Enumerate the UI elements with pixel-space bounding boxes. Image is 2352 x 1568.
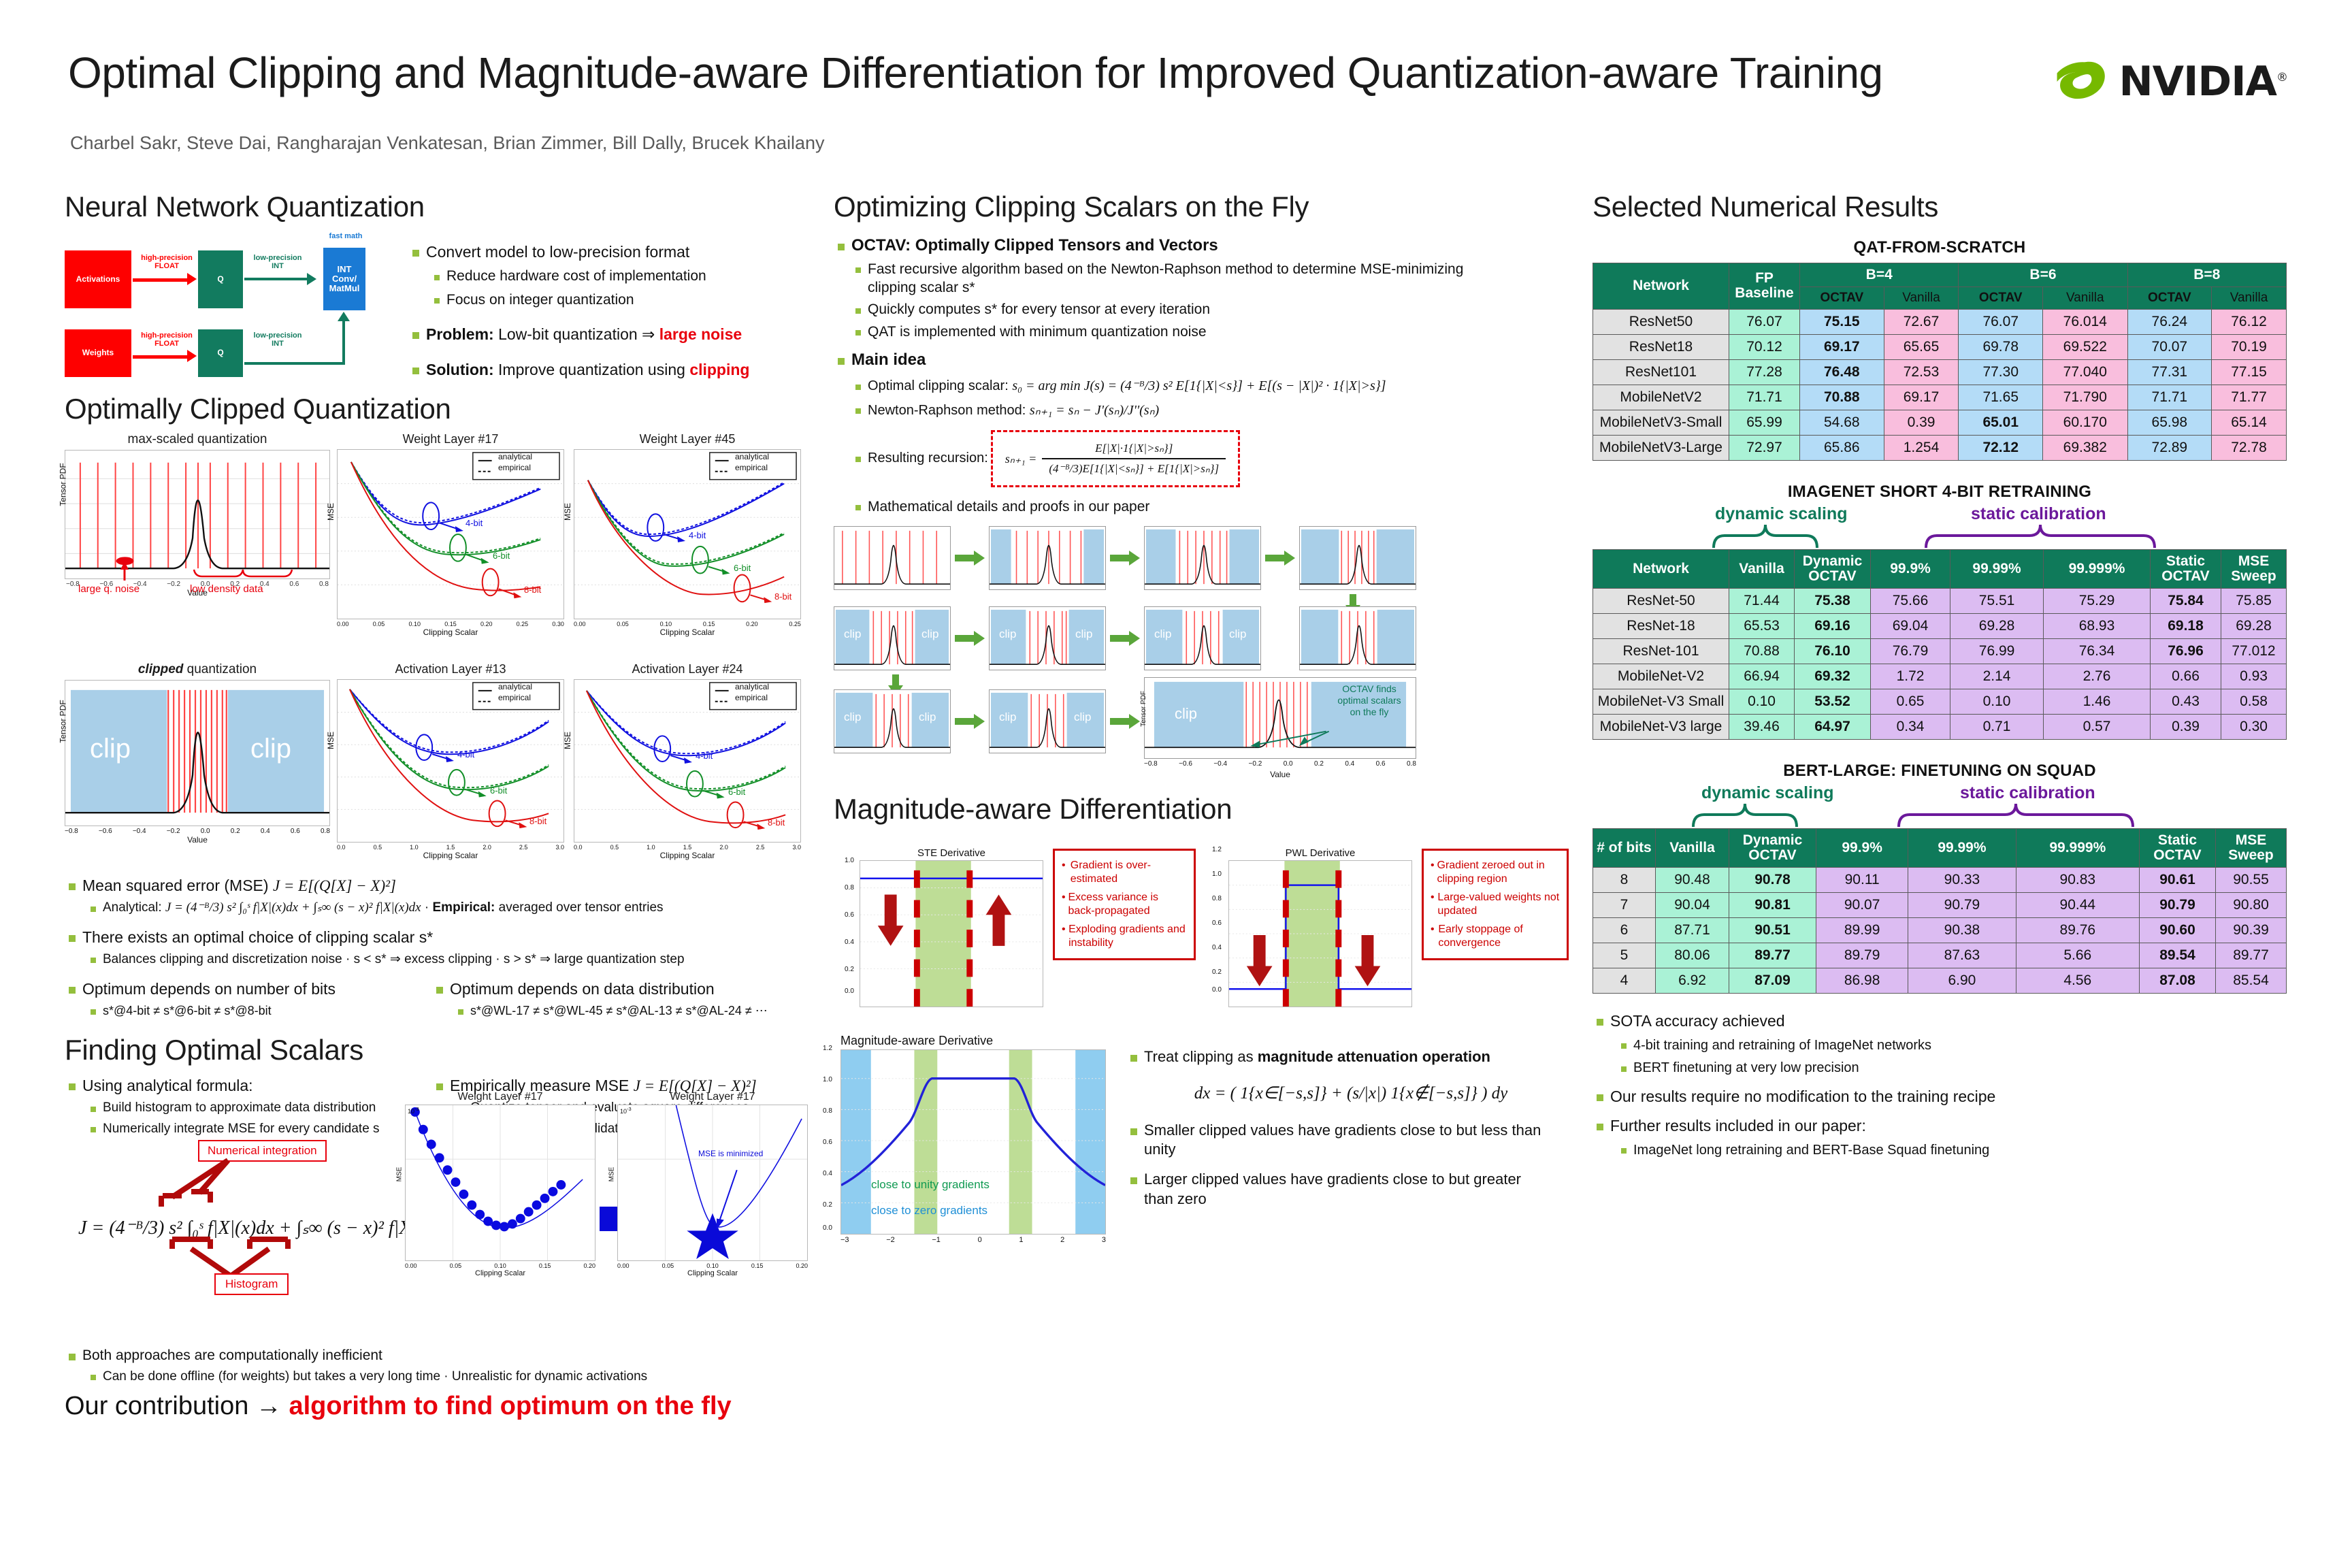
t2-th-7: MSE Sweep [2221,549,2287,588]
pdf-and-mse-plots-top: max-scaled quantization [65,432,806,657]
legend-empirical-2: empirical [498,693,531,702]
t3-th-0: # of bits [1593,829,1656,868]
cell-value: 90.44 [2016,893,2139,918]
table3-header-row: # of bits Vanilla Dynamic OCTAV 99.9% 99… [1593,829,2287,868]
t2-th-5: 99.999% [2044,549,2151,588]
arrowhead-1 [187,273,197,285]
section-title-magnitude-aware: Magnitude-aware Differentiation [834,793,1596,826]
mad-green-label: close to unity gradients [871,1178,990,1192]
table3-caption: BERT-LARGE: FINETUNING ON SQUAD [1592,762,2287,781]
ste-title: STE Derivative [860,847,1043,859]
scatter-ytick-top-0: 10-3 [408,1106,419,1115]
axis-label-mse-scatter-0: MSE [395,1167,403,1182]
cell-value: 69.04 [1871,614,1950,639]
max-scaled-plot-title: max-scaled quantization [65,432,330,447]
flow-cell-r2c2: clip clip [989,606,1106,670]
bullet-optimum-bits-sub: s*@4-bit ≠ s*@6-bit ≠ s*@8-bit [85,1003,432,1019]
clipped-xticks: −0.8−0.6−0.4−0.20.00.20.40.60.8 [65,826,330,835]
axis-label-clipping-scalar-2: Clipping Scalar [337,851,564,860]
cell-value: 71.790 [2043,385,2128,410]
axis-label-mse-scatter-1: MSE [608,1167,615,1182]
cell-value: 64.97 [1795,715,1871,740]
mse-xticks-3: 0.00.51.01.52.02.53.0 [574,843,801,851]
th-vanilla-b4: Vanilla [1884,287,1959,310]
mad-ytick-0.0: 0.0 [823,1224,832,1232]
legend-empirical-0: empirical [498,463,531,472]
bit-label-8-0: 8-bit [524,585,541,595]
mad-block: Magnitude-aware Derivative close to unit… [834,1034,1596,1258]
legend-analytical-2: analytical [498,682,532,691]
cell-value: 4.56 [2016,968,2139,994]
cell-network: MobileNetV2 [1593,385,1729,410]
bullet-optimal-choice: There exists an optimal choice of clippi… [65,928,806,947]
octav-equations: Optimal clipping scalar: s₀ = arg min J(… [834,378,1596,517]
cell-fp-baseline: 65.99 [1729,410,1800,435]
recursion-row: Resulting recursion: sₙ₊₁ = E[|X|·1{|X|>… [834,430,1596,487]
flow-cell-r3c2: clip clip [989,689,1106,753]
arrow-q-to-matmul-1 [244,278,310,280]
flow-clip-label-final: clip [1175,705,1197,723]
mse-plot-title-0: Weight Layer #17 [337,432,564,446]
th-b8: B=8 [2127,263,2286,287]
cell-value: 89.79 [1816,943,1908,968]
bullet-math-details: Mathematical details and proofs in our p… [850,498,1596,517]
table-row: 46.9287.0986.986.904.5687.0885.54 [1593,968,2287,994]
bullet-balances: Balances clipping and discretization noi… [85,951,806,968]
cell-row-label: 8 [1593,868,1656,893]
conclusion-sub-bullet: 4-bit training and retraining of ImageNe… [1616,1037,2287,1055]
inefficiency-block: Both approaches are computationally inef… [65,1347,806,1385]
cell-value: 76.10 [1795,639,1871,664]
cell-value: 89.54 [2140,943,2216,968]
mad-ytick-0.4: 0.4 [823,1170,832,1177]
author-list: Charbel Sakr, Steve Dai, Rangharajan Ven… [70,133,825,154]
mse-plot-title-1: Weight Layer #45 [574,432,801,446]
table2-brace-label-static: static calibration [1971,504,2106,524]
bit-label-4-0: 4-bit [465,518,483,528]
table3-brace-label-static: static calibration [1960,783,2095,803]
table2-brace-svg [1592,525,2287,549]
nvidia-eye-icon [2056,57,2109,106]
bullet-octav-qat: QAT is implemented with minimum quantiza… [850,323,1596,342]
mad-ytick-0.8: 0.8 [823,1107,832,1115]
table-row: MobileNetV3-Large72.9765.861.25472.1269.… [1593,435,2287,460]
octav-annotation: OCTAV finds optimal scalars on the fly [1331,683,1407,717]
bullet-both-inefficient: Both approaches are computationally inef… [65,1347,806,1365]
scatter-ytick-top-1: 10-3 [620,1106,632,1115]
annotation-large-noise: large q. noise [78,583,140,595]
bullet-numerically-integrate: Numerically integrate MSE for every cand… [85,1121,432,1137]
bert-large-block: BERT-LARGE: FINETUNING ON SQUAD dynamic … [1592,762,2287,994]
cell-value: 76.014 [2043,309,2128,334]
empirical-text: averaged over tensor entries [495,900,663,915]
cell-value: 1.72 [1871,664,1950,689]
bit-label-6-3: 6-bit [728,787,745,797]
treat-clipping-bold: magnitude attenuation operation [1258,1048,1490,1065]
registered-mark: ® [2276,71,2287,84]
cell-value: 70.88 [1729,639,1795,664]
cell-value: 0.10 [1729,689,1795,715]
cell-value: 90.48 [1656,868,1729,893]
legend-analytical-0: analytical [498,452,532,461]
ste-notes-box: •Gradient is over-estimated •Excess vari… [1053,849,1196,960]
cell-value: 60.170 [2043,410,2128,435]
cell-value: 69.78 [1959,334,2043,359]
table-bert-large: # of bits Vanilla Dynamic OCTAV 99.9% 99… [1592,828,2287,994]
scatter-title-0: Weight Layer #17 [405,1091,595,1103]
pwl-derivative-plot: PWL Derivative 1.2 1.0 0.8 0.6 0.4 0.2 0… [1228,832,1412,1007]
th-octav-b6: OCTAV [1959,287,2043,310]
newton-label: Newton-Raphson method: [868,403,1030,418]
cell-value: 89.77 [2216,943,2287,968]
cell-value: 76.99 [1950,639,2044,664]
cell-value: 90.81 [1729,893,1816,918]
analytical-label: Analytical: [103,900,162,915]
table3-body: 890.4890.7890.1190.3390.8390.6190.55790.… [1593,868,2287,994]
table-row: MobileNet-V266.9469.321.722.142.760.660.… [1593,664,2287,689]
cell-network: ResNet101 [1593,359,1729,385]
cell-value: 70.07 [2127,334,2212,359]
cell-value: 90.60 [2140,918,2216,943]
cell-value: 6.90 [1908,968,2016,994]
table2-header-row: Network Vanilla Dynamic OCTAV 99.9% 99.9… [1593,549,2287,588]
flow-clip-label-r2c2: clip [999,627,1017,641]
mse-plot-weight-17: Weight Layer #17 [337,432,564,637]
cell-value: 54.68 [1800,410,1884,435]
axis-label-value-flow: Value [1144,770,1416,779]
cell-value: 75.66 [1871,589,1950,614]
cell-value: 65.14 [2212,410,2287,435]
cell-value: 1.254 [1884,435,1959,460]
conclusion-bullet: Further results included in our paper: [1592,1116,2287,1136]
table2-body: ResNet-5071.4475.3875.6675.5175.2975.847… [1593,589,2287,740]
bullet-octav-heading: OCTAV: Optimally Clipped Tensors and Vec… [834,235,1596,257]
cell-value: 89.76 [2016,918,2139,943]
t3-th-1: Vanilla [1656,829,1729,868]
conclusion-bullet: Our results require no modification to t… [1592,1087,2287,1107]
cell-value: 76.96 [2151,639,2221,664]
mad-text-block: Treat clipping as magnitude attenuation … [1126,1047,1575,1209]
cell-value: 65.98 [2127,410,2212,435]
pwl-note-1: •Large-valued weights not updated [1431,891,1560,918]
cell-value: 90.51 [1729,918,1816,943]
conclusion-bullets: SOTA accuracy achieved4-bit training and… [1592,1011,2287,1159]
cell-value: 75.85 [2221,589,2287,614]
bullet-newton-raphson: Newton-Raphson method: sₙ₊₁ = sₙ − J'(sₙ… [850,402,1596,420]
flow-arrowhead-r1-1 [974,551,985,566]
cell-value: 75.15 [1800,309,1884,334]
table2-braces: dynamic scaling static calibration [1592,502,2287,549]
newton-formula: sₙ₊₁ = sₙ − J'(sₙ)/J''(sₙ) [1030,403,1159,418]
clipped-rest: quantization [183,662,257,676]
cell-row-label: MobileNet-V2 [1593,664,1729,689]
flow-clip-label-r3c1: clip [844,710,862,724]
bullet-build-histogram: Build histogram to approximate data dist… [85,1100,432,1116]
low-precision-int-label-2: low-precisionINT [246,332,310,348]
octav-block: OCTAV: Optimally Clipped Tensors and Vec… [834,235,1596,371]
clipped-em: clipped [138,662,184,676]
cell-value: 0.71 [1950,715,2044,740]
cell-value: 90.04 [1656,893,1729,918]
bullet-optimum-dist-sub: s*@WL-17 ≠ s*@WL-45 ≠ s*@AL-13 ≠ s*@AL-2… [453,1003,806,1019]
scatter-canvas-0: 10-3 MSE [405,1105,595,1261]
th-b6: B=6 [1959,263,2127,287]
axis-label-mse-3: MSE [563,732,572,749]
table-row: MobileNetV271.7170.8869.1771.6571.79071.… [1593,385,2287,410]
scatter-title-1: Weight Layer #17 [617,1091,808,1103]
bullet-optimum-bits: Optimum depends on number of bits [65,979,432,999]
weights-box: Weights [65,329,131,377]
cell-value: 0.10 [1950,689,2044,715]
nvidia-wordmark: NVIDIA® [2119,58,2287,105]
recursion-equation-box: sₙ₊₁ = E[|X|·1{|X|>sₙ}] (4⁻ᴮ/3)E[1{|X|<s… [991,430,1240,487]
clipped-plot-title: clipped quantization [65,662,330,677]
cell-value: 39.46 [1729,715,1795,740]
cell-fp-baseline: 77.28 [1729,359,1800,385]
axis-label-mse-1: MSE [563,503,572,521]
cell-row-label: 7 [1593,893,1656,918]
table-row: 790.0490.8190.0790.7990.4490.7990.80 [1593,893,2287,918]
cell-value: 72.89 [2127,435,2212,460]
table-qat-from-scratch: Network FP Baseline B=4 B=6 B=8 OCTAV Va… [1592,263,2287,461]
cell-fp-baseline: 76.07 [1729,309,1800,334]
mad-blue-label: close to zero gradients [871,1204,987,1218]
solution-label: Solution: [426,361,494,378]
bullet-reduce-hw-cost: Reduce hardware cost of implementation [429,267,803,286]
flow-cell-final: clip OCTAV finds optimal scalars on the … [1144,677,1416,759]
cell-value: 90.80 [2216,893,2287,918]
section-title-optimizing-clipping: Optimizing Clipping Scalars on the Fly [834,191,1596,223]
flow-arrow-r3-2 [1110,718,1130,725]
ste-note-1: •Excess variance is back-propagated [1062,891,1187,918]
cell-value: 65.53 [1729,614,1795,639]
table-imagenet-retraining: Network Vanilla Dynamic OCTAV 99.9% 99.9… [1592,549,2287,740]
table3-brace-label-dynamic: dynamic scaling [1701,783,1834,803]
cell-value: 72.12 [1959,435,2043,460]
table3-brace-svg [1592,804,2287,828]
flow-clip-label-r3c1b: clip [919,710,936,724]
table-row: MobileNetV3-Small65.9954.680.3965.0160.1… [1593,410,2287,435]
contribution-prefix: Our contribution → [65,1392,289,1420]
cell-value: 90.39 [2216,918,2287,943]
legend-empirical-3: empirical [735,693,768,702]
bullet-focus-integer: Focus on integer quantization [429,291,803,310]
optimal-scalar-formula: s₀ = arg min J(s) = (4⁻ᴮ/3) s² E[1{|X|<s… [1012,378,1386,393]
cell-value: 77.012 [2221,639,2287,664]
cell-value: 0.30 [2221,715,2287,740]
mse-xticks-2: 0.00.51.01.52.02.53.0 [337,843,564,851]
cell-value: 69.16 [1795,614,1871,639]
bullet-mse: Mean squared error (MSE) J = E[(Q[X] − X… [65,876,806,896]
flow-cell-r2c3: clip clip [1144,606,1261,670]
cell-fp-baseline: 72.97 [1729,435,1800,460]
bit-label-8-2: 8-bit [529,816,546,826]
mse-xticks-1: 0.000.050.100.150.200.25 [574,619,801,627]
ste-ytick-0.6: 0.6 [845,911,854,919]
bullet-solution: Solution: Improve quantization using cli… [408,360,803,380]
mse-plot-activation-13: Activation Layer #13 [337,662,564,860]
cell-value: 69.382 [2043,435,2128,460]
ste-note-0: •Gradient is over-estimated [1062,859,1187,886]
th-b4: B=4 [1800,263,1959,287]
cell-value: 65.86 [1800,435,1884,460]
mse-plot-canvas-1: analytical empirical 4-bit 6-bit 8-bit [574,449,801,619]
bullet-larger-clipped: Larger clipped values have gradients clo… [1126,1170,1548,1208]
mse-text-block: Mean squared error (MSE) J = E[(Q[X] − X… [65,876,806,1019]
int-conv-matmul-box: INTConv/MatMul [323,248,365,310]
recursion-label: Resulting recursion: [850,450,988,468]
cell-network: MobileNetV3-Large [1593,435,1729,460]
ste-ytick-0.8: 0.8 [845,884,854,892]
cell-value: 53.52 [1795,689,1871,715]
mse-plot-canvas-2: analytical empirical 4-bit 6-bit 8-bit [337,679,564,843]
flow-arrowhead-r3-1 [974,714,985,729]
cell-value: 0.34 [1871,715,1950,740]
axis-label-clipping-scalar-1: Clipping Scalar [574,627,801,637]
arrow-weights-path-v [342,321,345,365]
bullet-optimal-clipping-scalar: Optimal clipping scalar: s₀ = arg min J(… [850,378,1596,395]
scatter-canvas-1: 10-3 MSE MSE is minimized [617,1105,808,1261]
bullet-smaller-clipped: Smaller clipped values have gradients cl… [1126,1121,1548,1159]
ste-ytick-0.2: 0.2 [845,966,854,973]
cell-value: 86.98 [1816,968,1908,994]
t3-th-3: 99.9% [1816,829,1908,868]
recursion-denominator: (4⁻ᴮ/3)E[1{|X|<sₙ}] + E[1{|X|>sₙ}] [1042,459,1226,476]
table-row: ResNet-10170.8876.1076.7976.9976.3476.96… [1593,639,2287,664]
scatter-xticks-0: 0.000.050.100.150.20 [405,1261,595,1269]
flow-clip-label-r2c3b: clip [1229,627,1247,641]
formula-and-scatter-block: Numerical integration J = (4⁻ᴮ/3) s² ∫₀ˢ… [65,1140,806,1344]
clipped-plot-canvas: clip clip [65,680,330,826]
scatter-xticks-1: 0.000.050.100.150.20 [617,1261,808,1269]
scatter-plot-2: Weight Layer #17 10-3 MSE MSE is minimiz… [617,1091,808,1277]
cell-row-label: 4 [1593,968,1656,994]
legend-analytical-1: analytical [735,452,769,461]
bullet-convert-model: Convert model to low-precision format [408,242,803,262]
th-network: Network [1593,263,1729,310]
flow-arrowhead-r3-2 [1129,714,1140,729]
cell-value: 90.55 [2216,868,2287,893]
conclusion-sub-bullet: BERT finetuning at very low precision [1616,1060,2287,1077]
cell-value: 76.07 [1959,309,2043,334]
mse-plot-canvas-0: analytical empirical 4-bit 6-bit 8-bit [337,449,564,619]
empirical-label: Empirical: [433,900,495,915]
cell-value: 69.28 [1950,614,2044,639]
cell-value: 72.67 [1884,309,1959,334]
bullet-problem: Problem: Low-bit quantization ⇒ large no… [408,325,803,344]
mad-ytick-0.6: 0.6 [823,1139,832,1146]
table-row: 580.0689.7789.7987.635.6689.5489.77 [1593,943,2287,968]
table-row: ResNet1870.1269.1765.6569.7869.52270.077… [1593,334,2287,359]
flow-cell-r1c3 [1144,526,1261,590]
cell-value: 77.15 [2212,359,2287,385]
cell-value: 65.01 [1959,410,2043,435]
cell-value: 72.78 [2212,435,2287,460]
table2-caption: IMAGENET SHORT 4-BIT RETRAINING [1592,483,2287,502]
flow-arrowhead-r2-1 [974,631,985,646]
cell-value: 75.84 [2151,589,2221,614]
cell-value: 1.46 [2044,689,2151,715]
t3-th-7: MSE Sweep [2216,829,2287,868]
cell-value: 90.78 [1729,868,1816,893]
pwl-ytick-0.4: 0.4 [1212,944,1222,951]
scatter-plot-1: Weight Layer #17 10-3 MS [405,1091,595,1277]
ste-ytick-1.0: 1.0 [845,857,854,864]
clip-label-right: clip [250,734,291,764]
mad-canvas: close to unity gradients close to zero g… [840,1049,1106,1235]
annotation-low-density: low density data [190,583,263,595]
axis-label-clipping-scatter-0: Clipping Scalar [405,1269,595,1277]
right-column: Selected Numerical Results QAT-FROM-SCRA… [1592,191,2287,1159]
cell-value: 76.24 [2127,309,2212,334]
th-octav-b4: OCTAV [1800,287,1884,310]
pwl-ytick-0.2: 0.2 [1212,968,1222,976]
flow-arrow-r1-3 [1265,555,1286,561]
table1-caption: QAT-FROM-SCRATCH [1592,238,2287,257]
flow-cell-r2c1: clip clip [834,606,951,670]
cell-value: 69.522 [2043,334,2128,359]
cell-value: 90.33 [1908,868,2016,893]
ste-ytick-0.4: 0.4 [845,938,854,946]
cell-value: 0.58 [2221,689,2287,715]
pwl-ytick-0.0: 0.0 [1212,986,1222,994]
ste-canvas [860,860,1043,1007]
mse-xticks-0: 0.000.050.100.150.200.250.30 [337,619,564,627]
cell-value: 90.11 [1816,868,1908,893]
cell-value: 0.65 [1871,689,1950,715]
cell-value: 70.19 [2212,334,2287,359]
t3-th-4: 99.99% [1908,829,2016,868]
t2-th-4: 99.99% [1950,549,2044,588]
bullet-treat-clipping: Treat clipping as magnitude attenuation … [1126,1047,1575,1066]
flow-arrow-r2-1 [955,635,975,642]
flow-clip-label-r3c2b: clip [1074,710,1092,724]
pwl-title: PWL Derivative [1228,847,1412,859]
bit-label-8-3: 8-bit [768,817,785,828]
derivative-plots-row: STE Derivative 1.0 0.8 0.6 0.4 0.2 0.0 •… [834,832,1596,1030]
t2-th-0: Network [1593,549,1729,588]
flow-arrowhead-r1-3 [1284,551,1295,566]
cell-network: MobileNetV3-Small [1593,410,1729,435]
cell-value: 65.65 [1884,334,1959,359]
contribution-line: Our contribution → algorithm to find opt… [65,1392,806,1421]
bullet-using-analytical: Using analytical formula: [65,1076,432,1096]
cell-value: 75.29 [2044,589,2151,614]
table2-brace-label-dynamic: dynamic scaling [1715,504,1848,524]
flow-cell-r1c2 [989,526,1106,590]
bullet-octav-fast-recursive: Fast recursive algorithm based on the Ne… [850,261,1490,297]
mse-plot-weight-45: Weight Layer #45 [574,432,801,637]
clipped-plot: clipped quantization clip [65,662,330,845]
optimal-scalar-label: Optimal clipping scalar: [868,378,1012,393]
ste-derivative-plot: STE Derivative 1.0 0.8 0.6 0.4 0.2 0.0 [860,832,1043,1007]
mad-ytick-1.0: 1.0 [823,1076,832,1083]
annotation-mse-minimized: MSE is minimized [698,1149,763,1158]
t3-th-6: Static OCTAV [2140,829,2216,868]
section-title-selected-results: Selected Numerical Results [1592,191,2287,223]
pwl-ytick-1.2: 1.2 [1212,846,1222,853]
cell-row-label: 5 [1593,943,1656,968]
cell-value: 69.17 [1800,334,1884,359]
t2-th-6: Static OCTAV [2151,549,2221,588]
mad-xticks: −3−2−10123 [840,1235,1106,1244]
problem-label: Problem: [426,325,494,343]
flow-arrowhead-r2-2 [1129,631,1140,646]
cell-value: 5.66 [2016,943,2139,968]
solution-accent: clipping [689,361,749,378]
cell-value: 72.53 [1884,359,1959,385]
cell-value: 76.79 [1871,639,1950,664]
